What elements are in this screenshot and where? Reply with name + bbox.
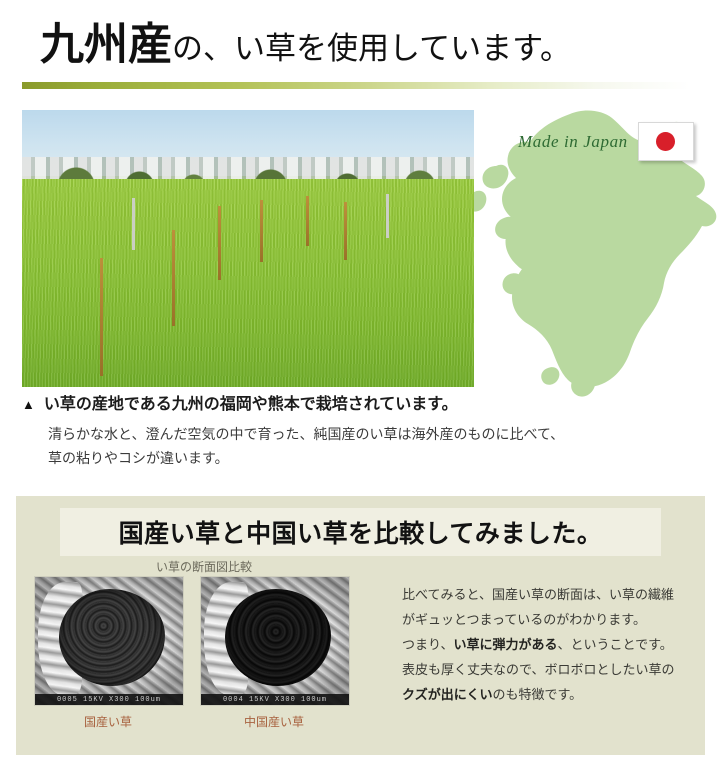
field-stake: [344, 202, 347, 260]
micrograph-chinese-image: 0004 15KV X300 100um: [200, 576, 350, 706]
description-line-5: クズが出にくいのも特徴です。: [402, 682, 712, 707]
photo-igusa-field: [22, 179, 474, 387]
field-stake: [132, 198, 135, 250]
page-header: 九州産の、い草を使用しています。: [0, 0, 720, 96]
triangle-bullet-icon: ▲: [22, 393, 35, 417]
comparison-heading-band: 国産い草と中国い草を比較してみました。: [60, 508, 661, 556]
hero-section: Made in Japan ▲ い草の産地である九州の福岡や熊本で栽培されていま…: [0, 96, 720, 486]
caption-body: 清らかな水と、澄んだ空気の中で育った、純国産のい草は海外産のものに比べて、 草の…: [48, 422, 702, 470]
micrograph-list: 0005 15KV X300 100um 国産い草 0004 15KV X300…: [34, 576, 348, 730]
description-line-4: 表皮も厚く丈夫なので、ボロボロとしたい草の: [402, 657, 712, 682]
description-line-1: 比べてみると、国産い草の断面は、い草の繊維: [402, 582, 712, 607]
title-underline-rule: [22, 82, 690, 89]
page-title: 九州産の、い草を使用しています。: [40, 22, 571, 72]
made-in-japan-badge: Made in Japan: [518, 122, 694, 161]
page-title-emphasis: 九州産: [40, 20, 172, 69]
field-stake: [306, 196, 309, 246]
caption-body-line-2: 草の粘りやコシが違います。: [48, 446, 702, 470]
micrograph-fiber-core: [59, 589, 166, 686]
description-line-3-bold: い草に弾力がある: [453, 637, 557, 652]
caption-headline-row: ▲ い草の産地である九州の福岡や熊本で栽培されています。: [22, 393, 702, 417]
field-stake: [260, 200, 263, 262]
igusa-field-photo: [22, 110, 474, 387]
micrograph-caption: 中国産い草: [200, 713, 348, 730]
micrograph-data-strip: 0005 15KV X300 100um: [35, 694, 183, 705]
page-title-rest: の、い草を使用しています。: [172, 31, 571, 66]
description-line-3-pre: つまり、: [402, 637, 453, 652]
japan-flag-icon: [638, 122, 694, 161]
field-stake: [386, 194, 389, 238]
micrograph-domestic-image: 0005 15KV X300 100um: [34, 576, 184, 706]
cross-section-label: い草の断面図比較: [156, 558, 252, 575]
field-stake: [172, 230, 175, 326]
description-line-3-post: 、ということです。: [558, 637, 673, 652]
description-line-3: つまり、い草に弾力がある、ということです。: [402, 632, 712, 657]
description-line-2: がギュッとつまっているのがわかります。: [402, 607, 712, 632]
micrograph-caption: 国産い草: [34, 713, 182, 730]
photo-caption: ▲ い草の産地である九州の福岡や熊本で栽培されています。 清らかな水と、澄んだ空…: [22, 393, 702, 470]
field-stake: [100, 258, 103, 376]
description-line-5-post: のも特徴です。: [492, 687, 582, 702]
micrograph-fiber-core: [225, 589, 332, 686]
micrograph-data-strip: 0004 15KV X300 100um: [201, 694, 349, 705]
description-line-5-bold: クズが出にくい: [402, 687, 492, 702]
field-stake: [218, 206, 221, 280]
list-item: 0004 15KV X300 100um 中国産い草: [200, 576, 348, 730]
comparison-panel: 国産い草と中国い草を比較してみました。 い草の断面図比較 0005 15KV X…: [16, 496, 705, 755]
caption-headline: い草の産地である九州の福岡や熊本で栽培されています。: [44, 393, 458, 417]
list-item: 0005 15KV X300 100um 国産い草: [34, 576, 182, 730]
comparison-description: 比べてみると、国産い草の断面は、い草の繊維 がギュッとつまっているのがわかります…: [402, 582, 712, 707]
comparison-heading: 国産い草と中国い草を比較してみました。: [119, 514, 603, 550]
flag-sun-disc: [656, 132, 675, 151]
made-in-japan-label: Made in Japan: [518, 132, 628, 152]
caption-body-line-1: 清らかな水と、澄んだ空気の中で育った、純国産のい草は海外産のものに比べて、: [48, 422, 702, 446]
